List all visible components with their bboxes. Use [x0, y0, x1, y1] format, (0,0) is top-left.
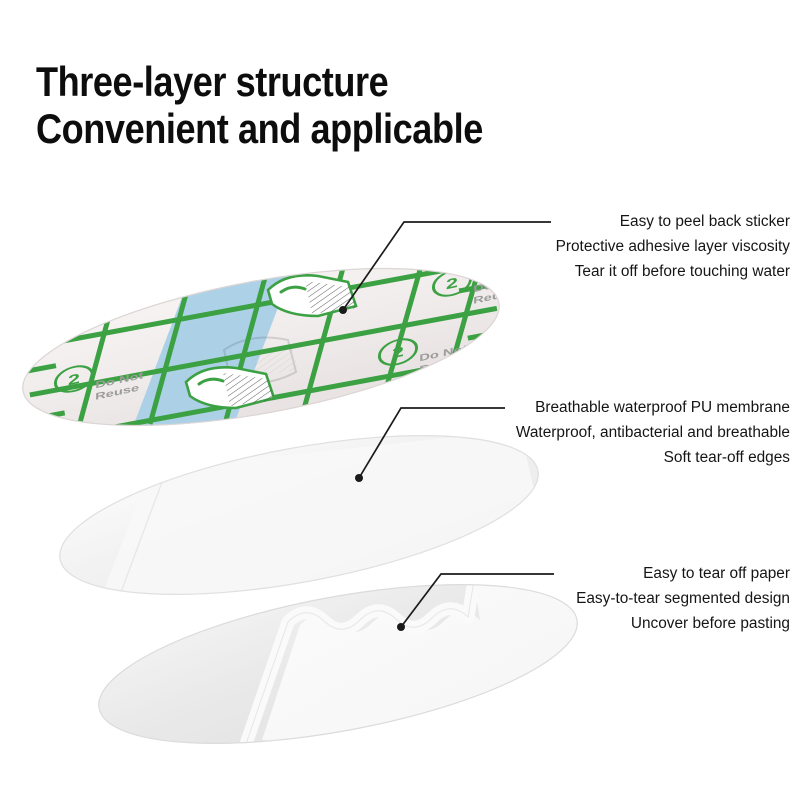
callout-line: Easy to tear off paper — [576, 561, 790, 586]
callout-line: Easy to peel back sticker — [556, 209, 790, 234]
do-not-reuse-symbol: 2 — [446, 274, 458, 292]
callout-line: Easy-to-tear segmented design — [576, 586, 790, 611]
callout-line: Waterproof, antibacterial and breathable — [516, 420, 790, 445]
do-not-reuse-symbol: 2 — [392, 343, 404, 361]
peel-tab-indicator-lower — [186, 367, 275, 408]
callout-line: Protective adhesive layer viscosity — [556, 234, 790, 259]
callout-line: Breathable waterproof PU membrane — [516, 395, 790, 420]
do-not-reuse-symbol: 2 — [68, 370, 80, 388]
callout-peel-back-sticker: Easy to peel back sticker Protective adh… — [556, 209, 790, 284]
callout-line: Uncover before pasting — [576, 611, 790, 636]
leader-dot — [397, 623, 405, 631]
do-not-reuse-label-1: Do Not — [473, 274, 522, 295]
infographic-page: Three-layer structure Convenient and app… — [0, 0, 800, 800]
leader-dot — [339, 306, 347, 314]
layer-top-release-liner: 2 Do Not Reuse 2 Do Not Reuse 2 Do Not R… — [11, 238, 523, 456]
leader-dot — [355, 474, 363, 482]
callout-tear-off-paper: Easy to tear off paper Easy-to-tear segm… — [576, 561, 790, 636]
callout-pu-membrane: Breathable waterproof PU membrane Waterp… — [516, 395, 790, 470]
callout-line: Soft tear-off edges — [516, 445, 790, 470]
callout-line: Tear it off before touching water — [556, 259, 790, 284]
